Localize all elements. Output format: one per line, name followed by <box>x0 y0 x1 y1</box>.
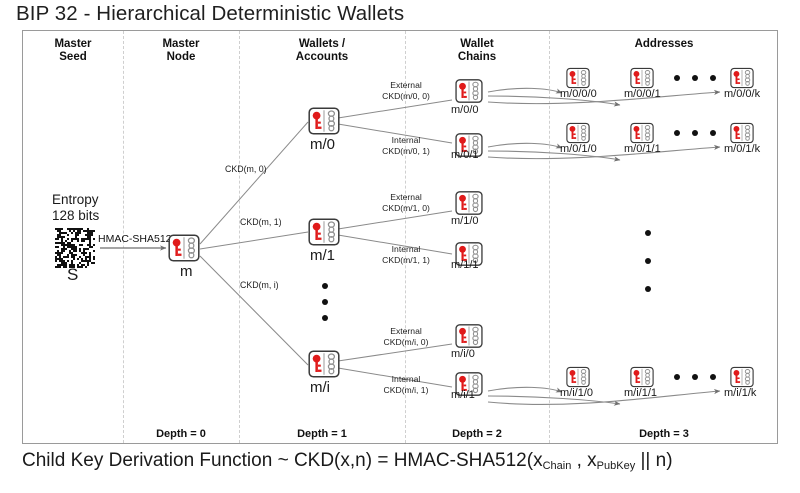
diagram-canvas: BIP 32 - Hierarchical Deterministic Wall… <box>0 0 800 493</box>
chain-ckd: CKD(m/0, 1) <box>364 146 448 157</box>
column-header-wallets-accounts: Wallets / Accounts <box>240 38 404 64</box>
chain-ckd: CKD(m/0, 0) <box>364 91 448 102</box>
address-label-m-0-0-k: m/0/0/k <box>724 88 760 100</box>
edge-label-ckd-m-1: CKD(m, 1) <box>240 217 282 227</box>
column-header-wallet-chains: Wallet Chains <box>406 38 548 64</box>
address-label-m-0-0-0: m/0/0/0 <box>560 88 597 100</box>
account-label-m1: m/1 <box>310 247 335 264</box>
ellipsis-dot-addr-row1-2 <box>692 130 698 136</box>
ellipsis-dot-addr-row0-1 <box>674 75 680 81</box>
wallet-key-chain-icon-m[interactable] <box>168 232 200 264</box>
header-line-1: Master <box>124 38 238 51</box>
column-divider-4 <box>549 31 550 443</box>
depth-label-3: Depth = 3 <box>550 428 778 440</box>
column-header-master-node: Master Node <box>124 38 238 64</box>
wallet-key-chain-icon-mi[interactable] <box>308 348 340 380</box>
ellipsis-dot-addr-row2-2 <box>692 374 698 380</box>
ellipsis-dot-addr-row0-2 <box>692 75 698 81</box>
edge-label-ckd-m-0: CKD(m, 0) <box>225 164 267 174</box>
seed-entropy-block-icon <box>55 228 95 268</box>
chain-edge-label-m00: External CKD(m/0, 0) <box>364 80 448 101</box>
wallet-key-chain-icon-m10[interactable] <box>455 189 483 217</box>
account-label-mi: m/i <box>310 379 330 396</box>
chain-label-mi1: m/i/1 <box>451 389 475 401</box>
wallet-key-chain-icon-m0[interactable] <box>308 105 340 137</box>
entropy-line-2: 128 bits <box>52 208 99 224</box>
entropy-label: Entropy 128 bits <box>52 192 99 224</box>
header-line-1: Master <box>24 38 122 51</box>
ellipsis-dot-accounts-3 <box>322 315 328 321</box>
wallet-key-chain-icon-addr-2-1[interactable] <box>630 365 654 389</box>
chain-kind: Internal <box>364 374 448 385</box>
chain-edge-label-mi1: Internal CKD(m/i, 1) <box>364 374 448 395</box>
wallet-key-chain-icon-m00[interactable] <box>455 77 483 105</box>
header-line-1: Wallets / <box>240 38 404 51</box>
chain-edge-label-m10: External CKD(m/1, 0) <box>364 192 448 213</box>
chain-edge-label-mi0: External CKD(m/i, 0) <box>364 326 448 347</box>
wallet-key-chain-icon-addr-1-1[interactable] <box>630 121 654 145</box>
chain-label-m11: m/1/1 <box>451 259 479 271</box>
chain-label-m00: m/0/0 <box>451 104 479 116</box>
chain-edge-label-m11: Internal CKD(m/1, 1) <box>364 244 448 265</box>
address-label-m-0-1-0: m/0/1/0 <box>560 143 597 155</box>
formula-sub-chain: Chain <box>543 460 572 472</box>
ellipsis-dot-accounts-1 <box>322 283 328 289</box>
page-title: BIP 32 - Hierarchical Deterministic Wall… <box>16 2 404 26</box>
wallet-key-chain-icon-addr-2-0[interactable] <box>566 365 590 389</box>
wallet-key-chain-icon-addr-1-0[interactable] <box>566 121 590 145</box>
formula-suffix: || n) <box>635 450 672 471</box>
header-line-2: Accounts <box>240 51 404 64</box>
depth-label-1: Depth = 1 <box>240 428 404 440</box>
chain-kind: External <box>364 192 448 203</box>
address-label-m-i-1-1: m/i/1/1 <box>624 387 657 399</box>
entropy-line-1: Entropy <box>52 192 99 208</box>
account-label-m0: m/0 <box>310 136 335 153</box>
chain-ckd: CKD(m/1, 1) <box>364 255 448 266</box>
depth-label-0: Depth = 0 <box>124 428 238 440</box>
header-line-2: Chains <box>406 51 548 64</box>
wallet-key-chain-icon-addr-0-k[interactable] <box>730 66 754 90</box>
wallet-key-chain-icon-addr-0-1[interactable] <box>630 66 654 90</box>
formula-prefix: Child Key Derivation Function ~ CKD(x,n)… <box>22 450 543 471</box>
header-line-2: Seed <box>24 51 122 64</box>
column-divider-2 <box>239 31 240 443</box>
formula-sub-pubkey: PubKey <box>597 460 636 472</box>
ellipsis-dot-addresses-v1 <box>645 230 651 236</box>
chain-label-mi0: m/i/0 <box>451 348 475 360</box>
header-line-2: Node <box>124 51 238 64</box>
ellipsis-dot-addr-row1-3 <box>710 130 716 136</box>
wallet-key-chain-icon-addr-0-0[interactable] <box>566 66 590 90</box>
chain-kind: Internal <box>364 135 448 146</box>
ellipsis-dot-addr-row1-1 <box>674 130 680 136</box>
address-label-m-0-1-1: m/0/1/1 <box>624 143 661 155</box>
header-line-1: Addresses <box>550 38 778 51</box>
wallet-key-chain-icon-addr-2-k[interactable] <box>730 365 754 389</box>
address-label-m-i-1-0: m/i/1/0 <box>560 387 593 399</box>
ellipsis-dot-addr-row2-3 <box>710 374 716 380</box>
edge-label-ckd-m-i: CKD(m, i) <box>240 280 279 290</box>
formula-mid: , x <box>571 450 596 471</box>
chain-kind: Internal <box>364 244 448 255</box>
chain-ckd: CKD(m/i, 1) <box>364 385 448 396</box>
master-node-label: m <box>180 263 193 280</box>
column-header-master-seed: Master Seed <box>24 38 122 64</box>
ellipsis-dot-addr-row2-1 <box>674 374 680 380</box>
address-label-m-i-1-k: m/i/1/k <box>724 387 756 399</box>
wallet-key-chain-icon-m1[interactable] <box>308 216 340 248</box>
chain-kind: External <box>364 326 448 337</box>
wallet-key-chain-icon-addr-1-k[interactable] <box>730 121 754 145</box>
hmac-edge-label: HMAC-SHA512 <box>98 233 172 245</box>
chain-label-m10: m/1/0 <box>451 215 479 227</box>
formula-caption: Child Key Derivation Function ~ CKD(x,n)… <box>22 450 782 472</box>
address-label-m-0-0-1: m/0/0/1 <box>624 88 661 100</box>
chain-ckd: CKD(m/1, 0) <box>364 203 448 214</box>
seed-symbol-label: S <box>67 265 78 285</box>
depth-label-2: Depth = 2 <box>406 428 548 440</box>
wallet-key-chain-icon-mi0[interactable] <box>455 322 483 350</box>
address-label-m-0-1-k: m/0/1/k <box>724 143 760 155</box>
chain-kind: External <box>364 80 448 91</box>
chain-label-m01: m/0/1 <box>451 149 479 161</box>
ellipsis-dot-addresses-v2 <box>645 258 651 264</box>
chain-edge-label-m01: Internal CKD(m/0, 1) <box>364 135 448 156</box>
ellipsis-dot-addresses-v3 <box>645 286 651 292</box>
chain-ckd: CKD(m/i, 0) <box>364 337 448 348</box>
header-line-1: Wallet <box>406 38 548 51</box>
ellipsis-dot-accounts-2 <box>322 299 328 305</box>
ellipsis-dot-addr-row0-3 <box>710 75 716 81</box>
column-header-addresses: Addresses <box>550 38 778 51</box>
